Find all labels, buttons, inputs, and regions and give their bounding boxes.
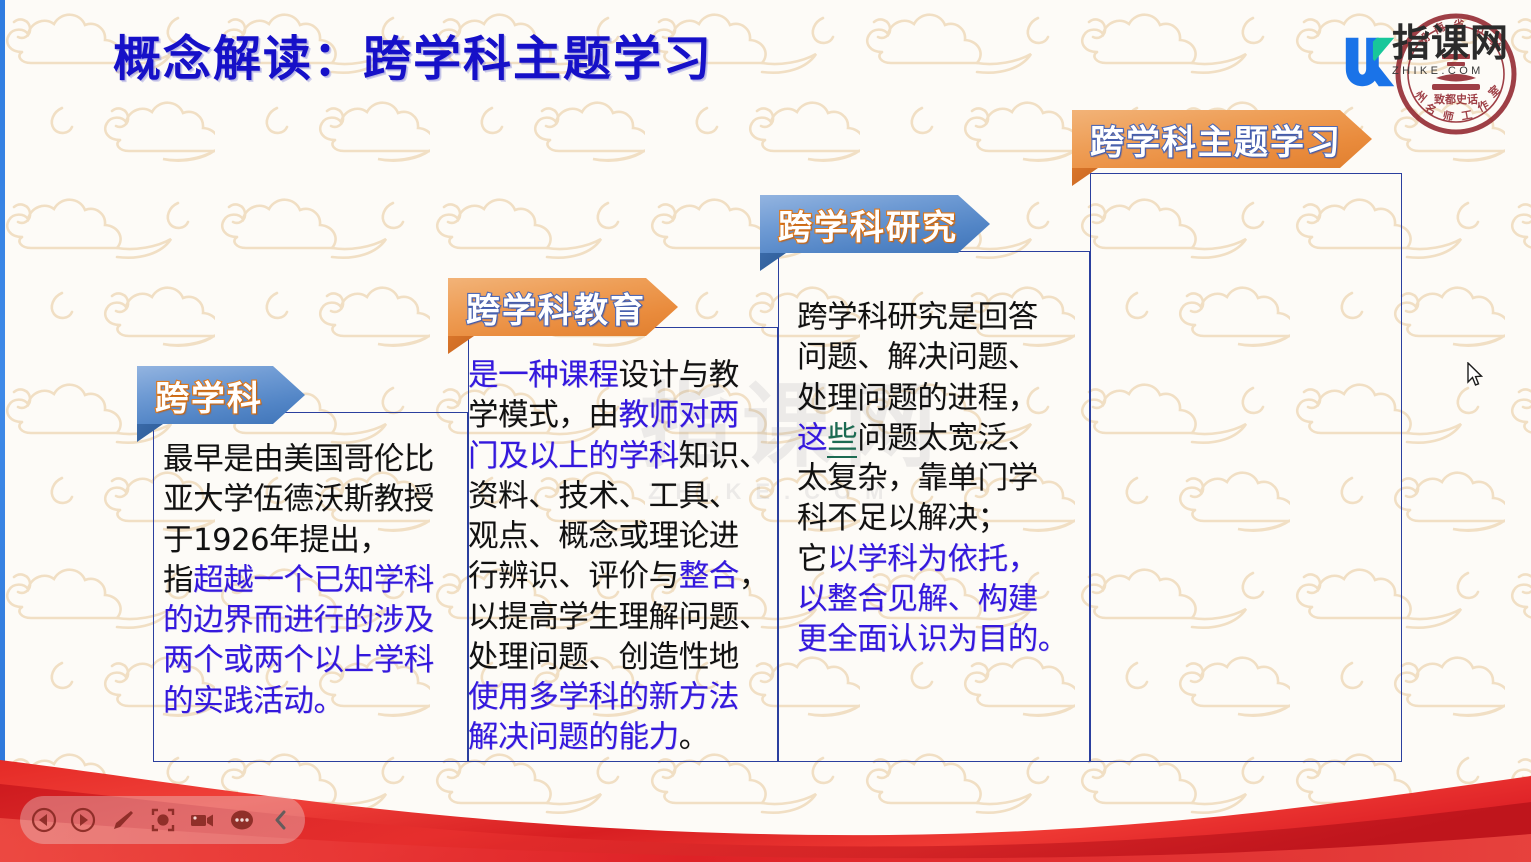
text-segment: 使用多学科的新方法	[468, 680, 739, 715]
body-line: 亚大学伍德沃斯教授	[163, 480, 463, 520]
text-segment: 观点、概念或理论进	[468, 519, 739, 554]
text-segment: 问题、解决问题、	[797, 340, 1038, 375]
ellipsis-icon	[227, 806, 257, 834]
text-segment: 问题太宽泛、	[857, 421, 1038, 456]
text-segment: 跨学科研究是回答	[797, 300, 1038, 335]
body-line: 解决问题的能力。	[468, 718, 780, 758]
step-2-body-text: 是一种课程设计与教学模式，由教师对两门及以上的学科知识、资料、技术、工具、观点、…	[468, 356, 780, 759]
body-line: 行辨识、评价与整合，	[468, 557, 780, 597]
step-3-body-text: 跨学科研究是回答问题、解决问题、处理问题的进程，这些问题太宽泛、太复杂，靠单门学…	[797, 298, 1082, 660]
body-line: 处理问题的进程，	[797, 379, 1082, 419]
text-segment: 处理问题的进程，	[797, 381, 1038, 416]
body-line: 是一种课程设计与教	[468, 356, 780, 396]
text-segment: 最早是由美国哥伦比	[163, 442, 434, 477]
step-4-banner-label: 跨学科主题学习	[1090, 115, 1342, 164]
step-3-banner[interactable]: 跨学科研究	[760, 195, 990, 253]
body-line: 处理问题、创造性地	[468, 638, 780, 678]
text-segment: 一个已知学科	[253, 563, 434, 598]
text-segment: 的实践活动。	[163, 684, 344, 719]
text-segment: 学模式，由	[468, 398, 619, 433]
page-title: 概念解读：跨学科主题学习	[113, 33, 713, 87]
step-1-banner[interactable]: 跨学科	[137, 366, 305, 424]
record-button[interactable]	[183, 800, 221, 840]
text-segment: 科不足以解决；	[797, 501, 1008, 536]
body-line: 最早是由美国哥伦比	[163, 440, 463, 480]
body-line: 科不足以解决；	[797, 499, 1082, 539]
body-line: 指超越一个已知学科	[163, 561, 463, 601]
step-3-banner-label: 跨学科研究	[778, 200, 958, 249]
text-segment: ，	[739, 559, 769, 594]
body-line: 资料、技术、工具、	[468, 477, 780, 517]
text-segment: 整合	[679, 559, 739, 594]
body-line: 的实践活动。	[163, 682, 463, 722]
step-2-banner-shape: 跨学科教育	[448, 278, 678, 336]
body-line: 使用多学科的新方法	[468, 678, 780, 718]
text-segment: 这	[797, 421, 827, 456]
crop-frame-icon	[149, 806, 177, 834]
step-4-banner[interactable]: 跨学科主题学习	[1072, 110, 1372, 168]
pencil-icon	[109, 806, 137, 834]
body-line: 两个或两个以上学科	[163, 641, 463, 681]
body-line: 的边界而进行的涉及	[163, 601, 463, 641]
text-segment: 以提高学生理解问题、	[468, 600, 769, 635]
text-segment: 行辨识、评价与	[468, 559, 679, 594]
text-segment: 以学科为依托，	[827, 542, 1038, 577]
body-line: 跨学科研究是回答	[797, 298, 1082, 338]
more-options-button[interactable]	[223, 800, 261, 840]
zhike-k-logo	[1340, 30, 1402, 92]
presentation-slide: 概念解读：跨学科主题学习 指课网 ZHIKE.COM 跨学科 最早是由美国哥伦比…	[0, 0, 1531, 862]
body-line: 它以学科为依托，	[797, 540, 1082, 580]
triangle-right-icon	[70, 807, 96, 833]
body-line: 于1926年提出，	[163, 521, 463, 561]
body-line: 以整合见解、构建	[797, 580, 1082, 620]
text-segment: 是一种课程	[468, 358, 619, 393]
body-line: 以提高学生理解问题、	[468, 598, 780, 638]
chevron-left-icon	[269, 807, 293, 833]
step-1-banner-label: 跨学科	[155, 371, 263, 420]
text-segment: 设计与教	[619, 358, 739, 393]
body-line: 更全面认识为目的。	[797, 620, 1082, 660]
text-segment: 资料、技术、工具、	[468, 479, 739, 514]
text-segment: 于1926年提出，	[163, 523, 390, 558]
body-line: 观点、概念或理论进	[468, 517, 780, 557]
play-button[interactable]	[65, 800, 103, 840]
text-segment: 。	[679, 720, 709, 755]
text-segment: 指	[163, 563, 193, 598]
text-segment: 门及以上的学科	[468, 439, 679, 474]
text-segment: 处理问题、创造性地	[468, 640, 739, 675]
text-segment: 知识、	[679, 439, 769, 474]
text-segment: 太复杂，靠单门学	[797, 461, 1038, 496]
body-line: 学模式，由教师对两	[468, 396, 780, 436]
step-1-body-text: 最早是由美国哥伦比亚大学伍德沃斯教授于1926年提出，指超越一个已知学科的边界而…	[163, 440, 463, 722]
body-line: 问题、解决问题、	[797, 338, 1082, 378]
text-segment: 它	[797, 542, 827, 577]
previous-slide-button[interactable]	[25, 800, 63, 840]
step-2-banner[interactable]: 跨学科教育	[448, 278, 678, 336]
step-4-panel	[1090, 173, 1402, 762]
body-line: 太复杂，靠单门学	[797, 459, 1082, 499]
text-segment: 解决问题的能力	[468, 720, 679, 755]
step-2-banner-label: 跨学科教育	[466, 283, 646, 332]
pen-tool-button[interactable]	[104, 800, 142, 840]
triangle-left-icon	[31, 807, 57, 833]
text-segment: 亚大学伍德沃斯教授	[163, 482, 434, 517]
left-edge-accent-strip	[0, 0, 5, 862]
step-3-banner-shape: 跨学科研究	[760, 195, 990, 253]
screenshot-button[interactable]	[144, 800, 182, 840]
text-segment: 两个或两个以上学科	[163, 643, 434, 678]
collapse-toolbar-button[interactable]	[262, 800, 300, 840]
body-line: 这些问题太宽泛、	[797, 419, 1082, 459]
text-segment: 教师对两	[619, 398, 739, 433]
text-segment: 些	[827, 421, 857, 458]
player-toolbar[interactable]	[20, 796, 305, 844]
video-camera-icon	[188, 806, 216, 834]
text-segment: 的边界而进行的涉及	[163, 603, 434, 638]
text-segment: 更全面认识为目的。	[797, 622, 1068, 657]
step-4-banner-shape: 跨学科主题学习	[1072, 110, 1372, 168]
body-line: 门及以上的学科知识、	[468, 437, 780, 477]
text-segment: 以整合见解、构建	[797, 582, 1038, 617]
step-1-banner-shape: 跨学科	[137, 366, 305, 424]
text-segment: 超越	[193, 563, 253, 598]
